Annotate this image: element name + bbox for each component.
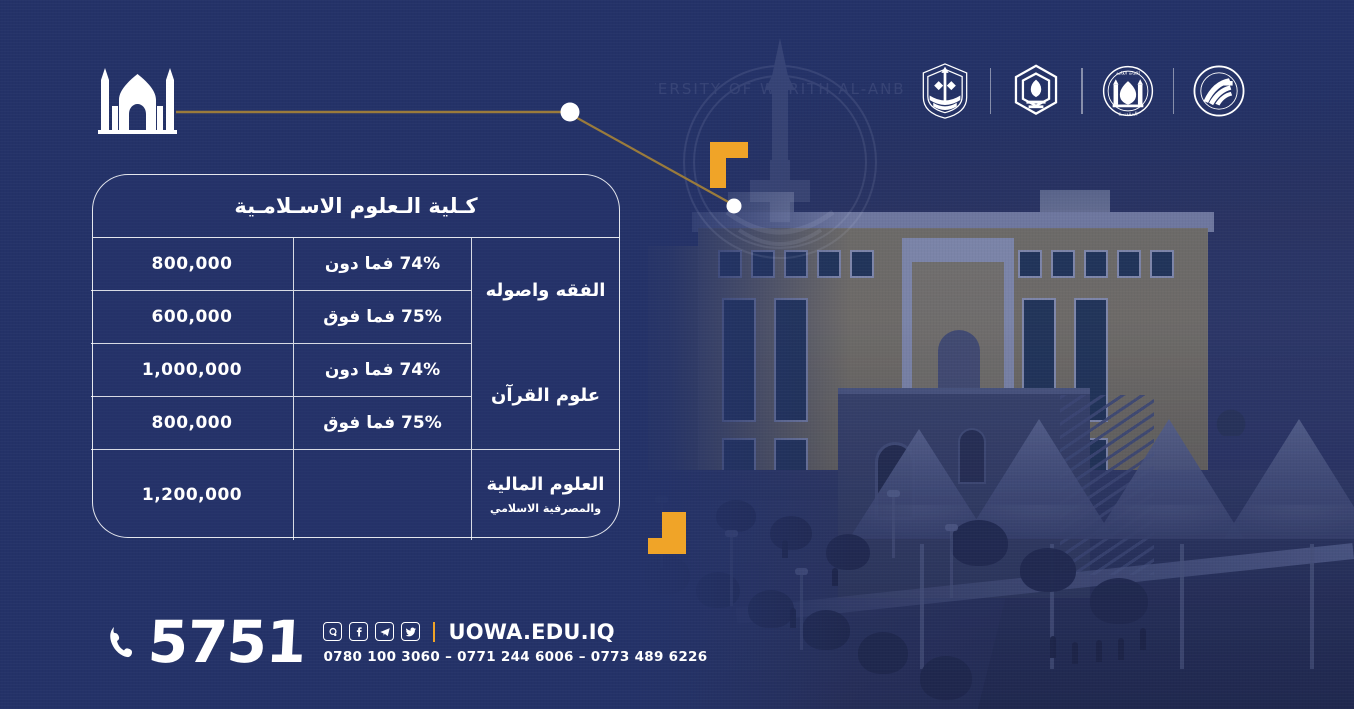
table-cell-amount: 800,000 [91,238,293,291]
logo-divider [990,68,991,114]
amount-value: 1,200,000 [142,485,242,505]
major-name: علوم القرآن [491,385,600,408]
connector-dot-start [561,103,580,122]
table-cell-grade: 74% فما دون [293,238,471,291]
major-name-sub: والمصرفية الاسلامي [490,502,601,516]
table-title: كـلية الـعلوم الاسـلامـية [93,175,619,237]
table-cell-grade: 75% فما فوق [293,397,471,450]
table-cell-amount: 800,000 [91,397,293,450]
facebook-icon[interactable] [349,622,368,641]
twitter-icon[interactable] [401,622,420,641]
phone-numbers: 0780 100 3060 – 0771 244 6006 – 0773 489… [323,649,707,665]
table-cell-amount: 600,000 [91,291,293,344]
amount-value: 1,000,000 [142,360,242,380]
footer-social-row: UOWA.EDU.IQ [323,620,707,644]
amount-value: 600,000 [152,307,233,327]
table-cell-grade [293,450,471,540]
partner-logos: الامانة العامة المقدسة [914,58,1250,124]
accent-corner-top [710,142,748,188]
table-cell-amount: 1,000,000 [91,344,293,397]
footer-right-block: UOWA.EDU.IQ 0780 100 3060 – 0771 244 600… [323,620,707,665]
table-cell-major: العلوم المالية والمصرفية الاسلامي [471,450,619,540]
table-cell-grade: 75% فما فوق [293,291,471,344]
table-cell-major: علوم القرآن [471,344,619,450]
grade-value: 74% فما دون [325,254,440,274]
logo-divider [1081,68,1082,114]
major-name: الفقه واصوله [486,280,606,303]
fees-table-grid: الفقه واصوله 74% فما دون 800,000 75% فما… [93,237,619,537]
hotline-number: 5751 [147,616,307,669]
mosque-icon [95,62,180,134]
website-url[interactable]: UOWA.EDU.IQ [448,620,614,644]
svg-text:الامانة العامة: الامانة العامة [1116,72,1140,77]
amount-value: 800,000 [152,413,233,433]
footer-contact-bar: 5751 [108,616,707,669]
logo-al-ataba-al-abbasiya-icon[interactable]: الامانة العامة المقدسة [1097,58,1159,124]
connector-dot-end [727,199,742,214]
svg-text:المقدسة: المقدسة [1118,111,1137,117]
amount-value: 800,000 [152,254,233,274]
grade-value: 74% فما دون [325,360,440,380]
major-name: العلوم المالية [487,474,605,497]
grade-value: 75% فما فوق [323,307,441,327]
instagram-icon[interactable] [323,622,342,641]
table-cell-amount: 1,200,000 [91,450,293,540]
accent-corner-bottom [648,512,686,554]
table-cell-grade: 74% فما دون [293,344,471,397]
logo-ministry-of-higher-education-icon[interactable] [1188,58,1250,124]
logo-university-of-warith-al-anbiyaa-icon[interactable] [914,58,976,124]
poster-root: UNIVERSITY OF WARITH AL-ANBIYAA كـلية ال… [0,0,1354,709]
logo-divider [1173,68,1174,114]
footer-divider [433,622,435,642]
logo-hexagon-book-icon[interactable] [1005,58,1067,124]
table-cell-major: الفقه واصوله [471,238,619,344]
telegram-icon[interactable] [375,622,394,641]
fees-table-card: كـلية الـعلوم الاسـلامـية الفقه واصوله 7… [92,174,620,538]
phone-icon [108,625,134,659]
grade-value: 75% فما فوق [323,413,441,433]
